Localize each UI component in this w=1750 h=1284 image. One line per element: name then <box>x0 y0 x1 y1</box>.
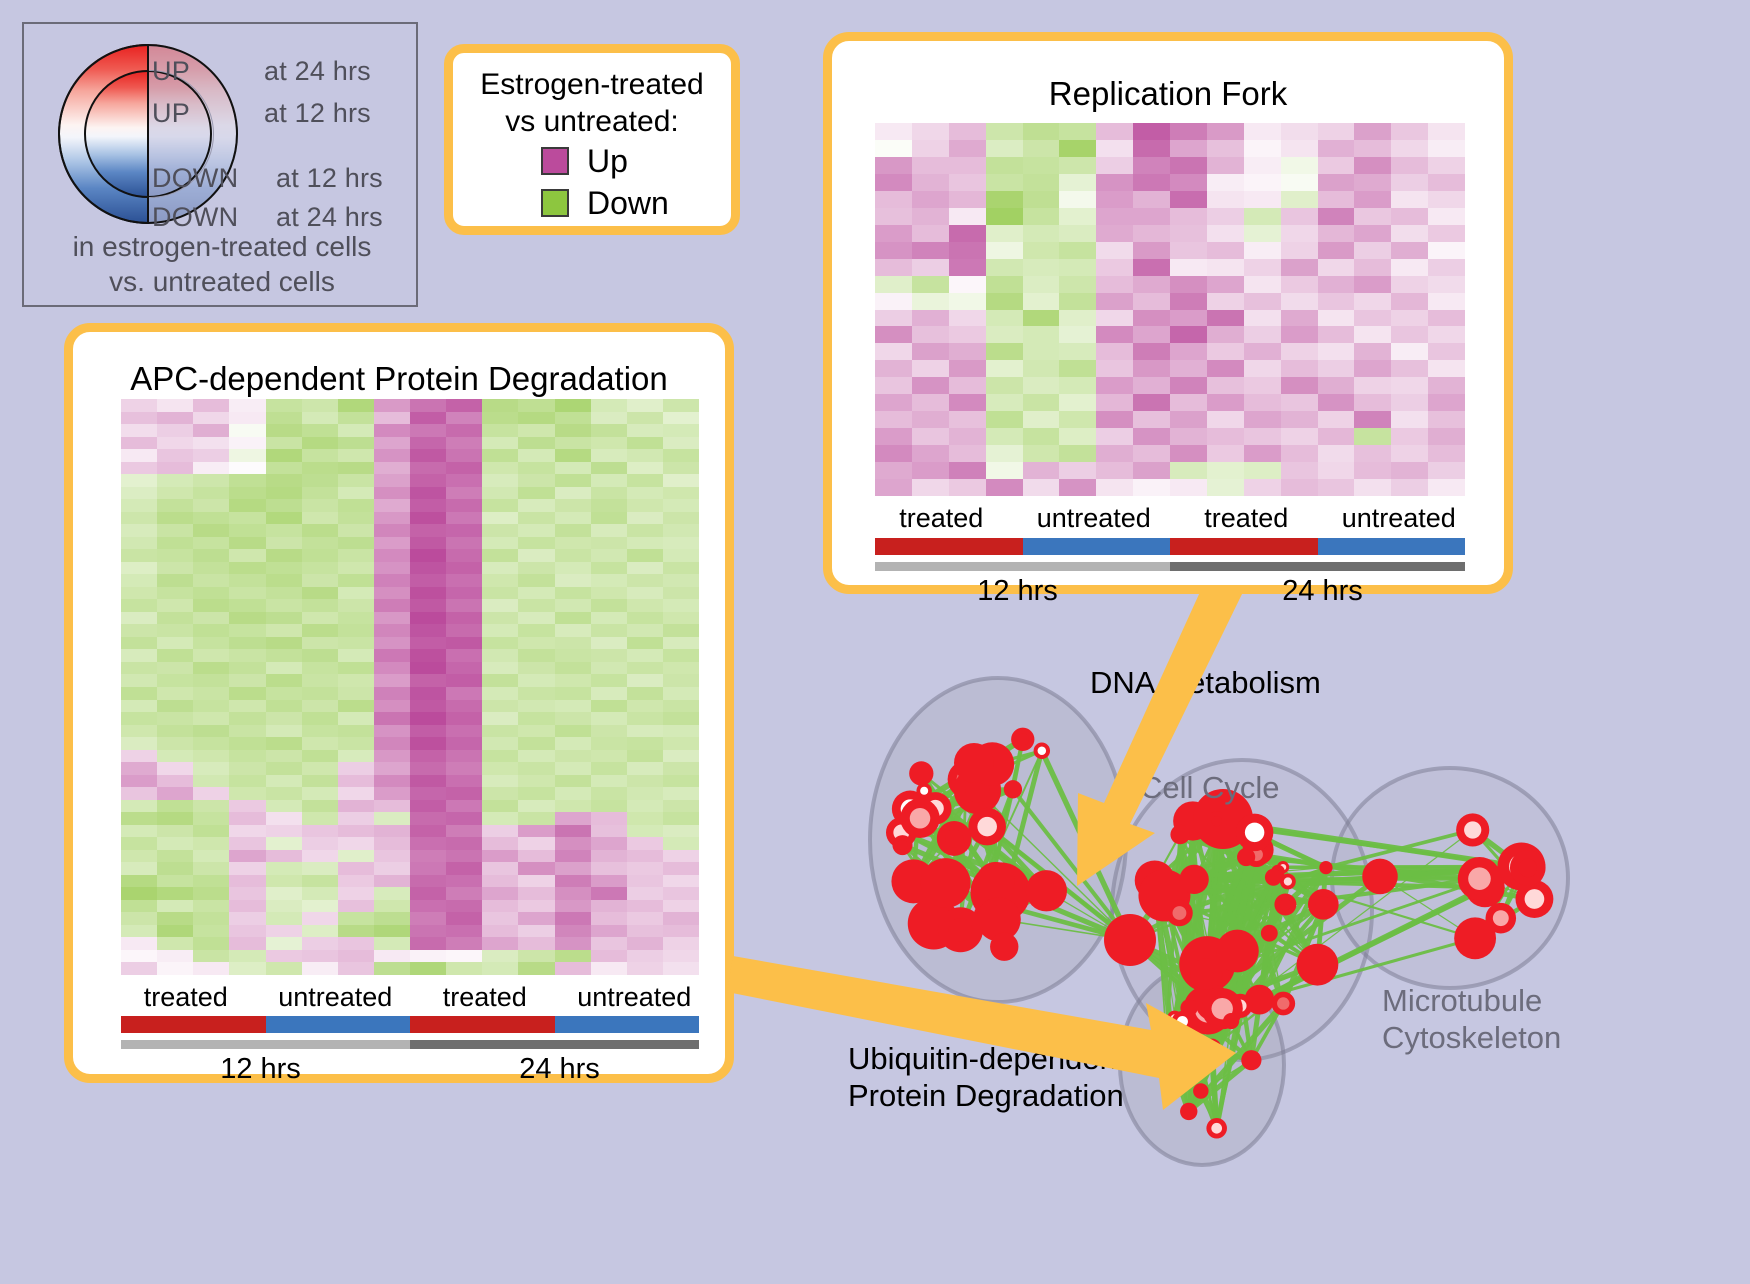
callout-arrows <box>0 0 1750 1279</box>
arrow-apc-degradation <box>727 956 1236 1110</box>
arrow-replication-fork <box>1077 592 1243 886</box>
